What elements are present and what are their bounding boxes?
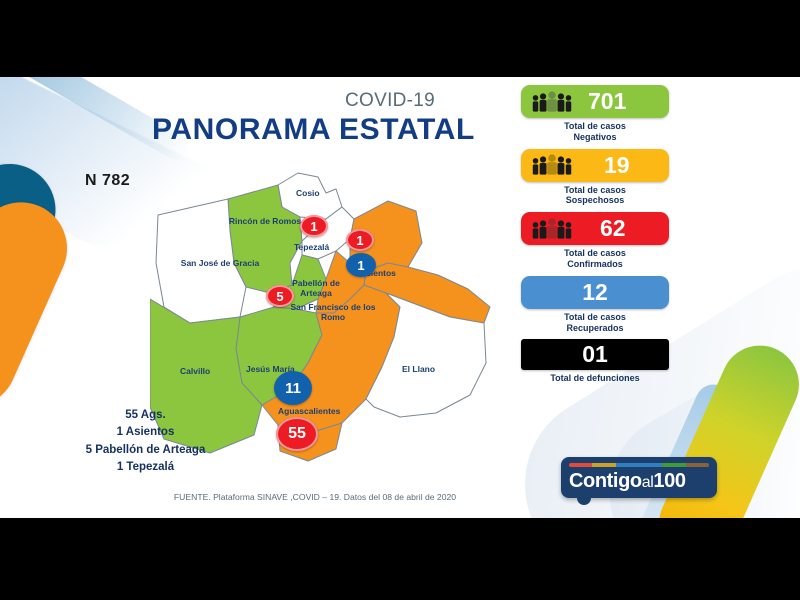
legend-line: 1 Asientos [58, 424, 233, 441]
map-label-rincon-de-romos: Rincón de Romos [228, 217, 302, 227]
stat-card-negativos[interactable]: 701 [521, 85, 669, 118]
logo-stripe [592, 463, 615, 467]
map-label-calvillo: Calvillo [180, 367, 210, 377]
stat-card-confirmados[interactable]: 62 [521, 212, 669, 245]
stat-card-recuperados[interactable]: 12 [521, 276, 669, 309]
logo-word-100: 100 [653, 470, 685, 492]
people-group-icon [530, 91, 574, 113]
stat-label-defunciones: Total de defunciones [521, 373, 669, 384]
stat-label-line1: Total de casos [521, 121, 669, 132]
stat-label-line1: Total de casos [521, 185, 669, 196]
logo-word-al: al [642, 474, 654, 491]
stat-value: 12 [582, 281, 608, 304]
logo-stripe [616, 463, 639, 467]
stat-label-recuperados: Total de casos Recuperados [521, 312, 669, 334]
map-marker-aguascalientes-recovered[interactable]: 11 [274, 371, 312, 405]
stats-panel: 701 Total de casos Negativos [521, 85, 669, 390]
page-title: PANORAMA ESTATAL [152, 113, 475, 147]
stat-card-defunciones[interactable]: 01 [521, 339, 669, 370]
logo-stripe [686, 463, 709, 467]
map-label-aguascalientes: Aguascalientes [278, 407, 340, 417]
stat-label-negativos: Total de casos Negativos [521, 121, 669, 143]
stat-label-line2: Sospechosos [521, 195, 669, 206]
map-marker-asientos-confirmed[interactable]: 1 [346, 229, 374, 251]
logo-stripe [569, 463, 592, 467]
logo-word-contigo: Contigo [569, 470, 642, 492]
map-label-el-llano: El Llano [402, 365, 435, 375]
ribbon-orange [0, 188, 82, 422]
map-label-san-jose-de-gracia: San José de Gracia [178, 259, 262, 269]
source-note: FUENTE. Plataforma SINAVE ,COVID – 19. D… [150, 492, 480, 502]
covid-kicker: COVID-19 [345, 90, 435, 112]
stat-value: 01 [582, 343, 608, 366]
contigo-al-100-logo[interactable]: Contigoal100 [561, 457, 717, 498]
legend-line: 55 Ags. [58, 407, 233, 424]
map-marker-aguascalientes-confirmed[interactable]: 55 [276, 417, 318, 451]
map-label-cosio: Cosio [296, 189, 320, 199]
stat-value: 701 [588, 90, 626, 113]
screenshot-stage: COVID-19 PANORAMA ESTATAL N 782 [0, 0, 800, 600]
logo-stripe [639, 463, 662, 467]
logo-bubble: Contigoal100 [561, 457, 717, 498]
map-marker-tepezala-confirmed[interactable]: 1 [300, 215, 328, 237]
map-marker-asientos-recovered[interactable]: 1 [346, 253, 376, 277]
people-group-icon [530, 218, 574, 240]
total-sample-label: N 782 [85, 172, 130, 190]
people-group-icon [530, 154, 574, 176]
stat-label-confirmados: Total de casos Confirmados [521, 248, 669, 270]
map-marker-pabellon-confirmed[interactable]: 5 [266, 285, 294, 307]
logo-stripe [662, 463, 685, 467]
stat-label-line1: Total de casos [521, 248, 669, 259]
stat-value: 62 [600, 217, 626, 240]
stat-label-line1: Total de defunciones [521, 373, 669, 384]
map-label-san-francisco-de-los-romo: San Francisco de los Romo [290, 303, 376, 322]
slide-canvas: COVID-19 PANORAMA ESTATAL N 782 [0, 77, 800, 518]
logo-stripe-bar [569, 463, 709, 467]
stat-card-sospechosos[interactable]: 19 [521, 149, 669, 182]
stat-label-line1: Total de casos [521, 312, 669, 323]
stat-label-sospechosos: Total de casos Sospechosos [521, 185, 669, 207]
stat-label-line2: Negativos [521, 132, 669, 143]
map-label-tepezala: Tepezalá [294, 243, 329, 253]
stat-value: 19 [604, 154, 630, 177]
legend-confirmed-by-municipality: 55 Ags. 1 Asientos 5 Pabellón de Arteaga… [58, 407, 233, 476]
logo-wordmark: Contigoal100 [569, 471, 709, 491]
stat-label-line2: Recuperados [521, 323, 669, 334]
legend-line: 5 Pabellón de Arteaga [58, 442, 233, 459]
stat-label-line2: Confirmados [521, 259, 669, 270]
legend-line: 1 Tepezalá [58, 459, 233, 476]
